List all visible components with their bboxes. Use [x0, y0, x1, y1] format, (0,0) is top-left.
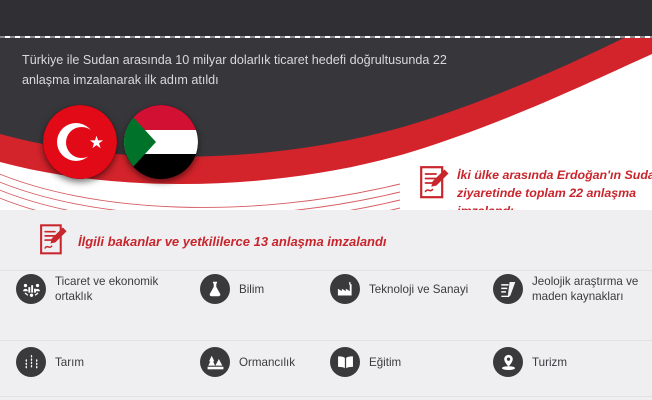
hero-callout-text-block: İki ülke arasında Erdoğan'ın Suda ziyare…	[457, 166, 652, 210]
item-label: Bilim	[239, 282, 264, 297]
sudan-flag	[124, 105, 198, 179]
item-bilim[interactable]: Bilim	[200, 274, 264, 304]
item-teknoloji-sanayi[interactable]: Teknoloji ve Sanayi	[330, 274, 468, 304]
item-egitim[interactable]: Eğitim	[330, 347, 401, 377]
hero-callout-line-2: ziyaretinde toplam 22 anlaşma	[457, 184, 652, 202]
header-dashed-divider	[0, 36, 652, 38]
item-jeolojik-maden[interactable]: Jeolojik araştırma ve maden kaynakları	[493, 274, 650, 304]
hero-callout-line-3: imzalandı	[457, 202, 652, 210]
item-label: Eğitim	[369, 355, 401, 370]
map-pin-icon	[493, 347, 523, 377]
flask-icon	[200, 274, 230, 304]
item-tarim[interactable]: Tarım	[16, 347, 84, 377]
item-trade-partnership[interactable]: Ticaret ve ekonomik ortaklık	[16, 274, 173, 304]
mining-icon	[493, 274, 523, 304]
star-icon: ★	[88, 134, 105, 151]
contract-sign-icon	[40, 224, 68, 258]
header-band	[0, 0, 652, 36]
item-label: Ormancılık	[239, 355, 295, 370]
turkey-flag: ★	[43, 105, 117, 179]
hero-section: Türkiye ile Sudan arasında 10 milyar dol…	[0, 38, 652, 210]
hero-callout-line-1: İki ülke arasında Erdoğan'ın Suda	[457, 166, 652, 184]
forest-icon	[200, 347, 230, 377]
section-divider-middle	[0, 340, 652, 341]
item-label: Tarım	[55, 355, 84, 370]
open-book-icon	[330, 347, 360, 377]
agreements-section: İlgili bakanlar ve yetkililerce 13 anlaş…	[0, 210, 652, 400]
item-label: Ticaret ve ekonomik ortaklık	[55, 274, 173, 304]
item-ormancilik[interactable]: Ormancılık	[200, 347, 295, 377]
item-label: Turizm	[532, 355, 567, 370]
infographic-root: Türkiye ile Sudan arasında 10 milyar dol…	[0, 0, 652, 400]
item-turizm[interactable]: Turizm	[493, 347, 567, 377]
sudan-green-triangle	[124, 105, 156, 179]
sudan-flag-inner	[124, 105, 198, 179]
turkey-flag-inner: ★	[43, 105, 117, 179]
hero-callout: İki ülke arasında Erdoğan'ın Suda ziyare…	[420, 166, 652, 210]
agreements-heading: İlgili bakanlar ve yetkililerce 13 anlaş…	[40, 224, 387, 258]
contract-sign-icon	[420, 166, 450, 202]
wheat-icon	[16, 347, 46, 377]
item-label: Jeolojik araştırma ve maden kaynakları	[532, 274, 650, 304]
agreements-heading-text: İlgili bakanlar ve yetkililerce 13 anlaş…	[78, 234, 387, 249]
item-label: Teknoloji ve Sanayi	[369, 282, 468, 297]
section-divider-bottom	[0, 396, 652, 397]
trade-partnership-icon	[16, 274, 46, 304]
section-divider-top	[0, 270, 652, 271]
factory-icon	[330, 274, 360, 304]
hero-subtitle: Türkiye ile Sudan arasında 10 milyar dol…	[22, 50, 452, 90]
